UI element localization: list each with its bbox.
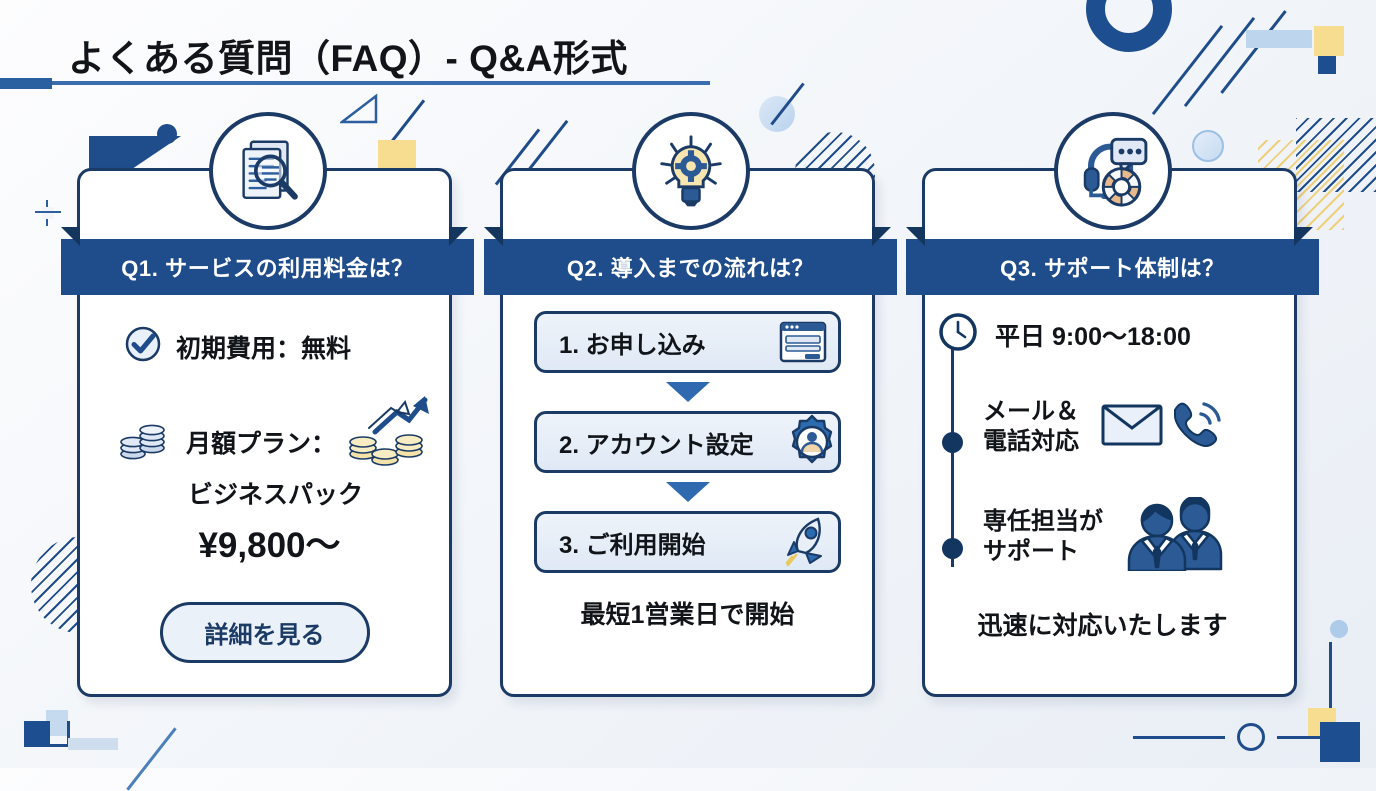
page-title: よくある質問（FAQ）- Q&A形式 [68, 28, 628, 82]
timeline-line [951, 341, 954, 567]
faq-card-q2-heading-text: Q2. 導入までの流れは？ [567, 251, 814, 283]
step-1-label: 1. お申し込み [559, 325, 706, 360]
decor-diagonal-q2 [770, 83, 804, 126]
arrow-down-icon-2 [666, 482, 710, 502]
support-agents-icon [1121, 497, 1233, 576]
faq-card-q3-heading-text: Q3. サポート体制は？ [1000, 251, 1225, 283]
step-3-label: 3. ご利用開始 [559, 525, 706, 560]
decor-diagonal-q1-c [386, 99, 425, 148]
timeline-dot-1 [942, 432, 963, 453]
faq-card-q1-heading-text: Q1. サービスの利用料金は？ [121, 251, 414, 283]
support-hours-text: 平日 9:00〜18:00 [995, 317, 1191, 353]
decor-square-outline-bl [46, 721, 70, 747]
monthly-plan-label: 月額プラン： [186, 424, 336, 460]
header: よくある質問（FAQ）- Q&A形式 [0, 14, 1376, 86]
decor-light-square-bl [46, 710, 68, 736]
slide-canvas: よくある質問（FAQ）- Q&A形式 Q1. サービスの利用料金は？ [0, 0, 1376, 768]
monthly-plan-name: ビジネスパック [100, 475, 429, 511]
decor-navy-square-bl [24, 721, 50, 747]
faq-card-q2-body: 1. お申し込み 2. アカウント設定 [503, 295, 872, 649]
decor-diagonal-q1-b [527, 120, 569, 172]
coins-growth-arrow-icon [339, 392, 431, 472]
step-item-2[interactable]: 2. アカウント設定 [534, 411, 841, 473]
timeline-dot-2 [942, 538, 963, 559]
faq-card-q3-body: 平日 9:00〜18:00 メール＆ 電話対応 [925, 295, 1294, 660]
initial-fee-text: 初期費用：無料 [176, 329, 351, 365]
support-agent-line2: サポート [983, 538, 1079, 565]
support-channel-line2: 電話対応 [983, 428, 1079, 455]
faq-card-q3[interactable]: Q3. サポート体制は？ 平日 9:00〜18:00 [922, 168, 1297, 697]
decor-diagonal-bl [126, 727, 176, 790]
decor-circle-q2 [759, 96, 795, 132]
lightbulb-gear-icon [632, 112, 750, 230]
step-item-1[interactable]: 1. お申し込み [534, 311, 841, 373]
support-channel-text: メール＆ 電話対応 [983, 397, 1079, 456]
faq-card-q3-footer: 迅速に対応いたします [931, 606, 1274, 642]
decor-navy-dot-q1 [157, 124, 177, 144]
decor-light-dot-br [1330, 620, 1348, 638]
user-gear-icon [782, 412, 842, 472]
decor-navy-square-br [1320, 722, 1360, 762]
title-rule [52, 81, 710, 85]
faq-card-q2-footer: 最短1営業日で開始 [523, 595, 852, 631]
faq-card-q1-heading: Q1. サービスの利用料金は？ [61, 239, 474, 295]
headset-support-icon [1054, 112, 1172, 230]
cta-wrapper: 詳細を見る [100, 602, 429, 663]
decor-crosshair-left [35, 200, 61, 226]
support-channel-row: メール＆ 電話対応 [983, 392, 1274, 461]
clock-icon [937, 311, 979, 358]
support-channel-line1: メール＆ [983, 398, 1079, 425]
faq-card-q2-heading: Q2. 導入までの流れは？ [484, 239, 897, 295]
decor-circle-q3 [1192, 130, 1224, 162]
decor-light-bar-bl [68, 738, 118, 750]
faq-card-q3-heading: Q3. サポート体制は？ [906, 239, 1319, 295]
decor-line-bottom-right [1277, 736, 1325, 739]
support-agent-line1: 専任担当が [983, 508, 1103, 535]
mail-phone-icon [1101, 392, 1221, 461]
check-circle-icon [124, 325, 162, 368]
coins-stack-icon [118, 414, 172, 469]
support-agent-text: 専任担当が サポート [983, 507, 1103, 566]
decor-line-bottom-left [1133, 736, 1225, 739]
decor-circle-outline-bottom [1237, 723, 1265, 751]
faq-card-q1-body: 初期費用：無料 [80, 295, 449, 681]
decor-line-vertical-br [1329, 642, 1332, 724]
web-form-icon [776, 315, 830, 369]
faq-card-q2[interactable]: Q2. 導入までの流れは？ 1. お申し込み [500, 168, 875, 697]
monthly-plan-block: 月額プラン： ビジネスパック ¥9,800〜 [100, 414, 429, 568]
faq-card-q1[interactable]: Q1. サービスの利用料金は？ 初期費用：無料 [77, 168, 452, 697]
monthly-plan-price: ¥9,800〜 [100, 517, 429, 568]
document-magnifier-icon [209, 112, 327, 230]
support-agent-row: 専任担当が サポート [983, 497, 1274, 576]
initial-fee-row: 初期費用：無料 [124, 325, 429, 368]
rocket-icon [778, 513, 836, 571]
decor-hatch-top-right [1296, 118, 1376, 192]
step-2-label: 2. アカウント設定 [559, 425, 754, 460]
step-item-3[interactable]: 3. ご利用開始 [534, 511, 841, 573]
support-hours-row: 平日 9:00〜18:00 [937, 311, 1274, 358]
title-rule-accent [0, 78, 52, 89]
details-button[interactable]: 詳細を見る [160, 602, 370, 663]
arrow-down-icon-1 [666, 382, 710, 402]
decor-yellow-square-br [1308, 708, 1336, 736]
